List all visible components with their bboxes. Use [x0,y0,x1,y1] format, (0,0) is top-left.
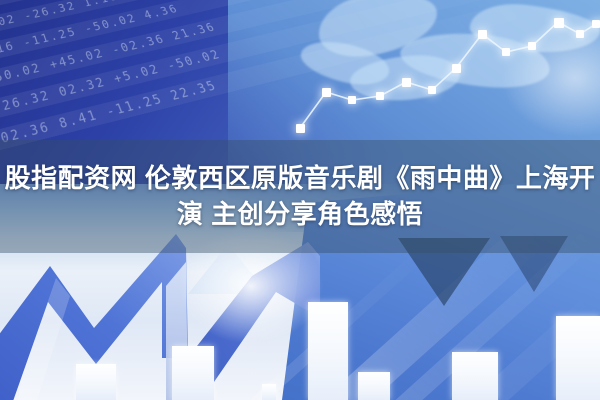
bar [76,364,116,400]
bar [452,352,498,400]
glowing-line-chart [296,0,600,146]
bar [308,302,348,400]
headline-line-2: 演 主创分享角色感悟 [177,199,423,231]
headline-overlay: 股指配资网 伦敦西区原版音乐剧《雨中曲》上海开 演 主创分享角色感悟 [0,140,600,253]
line-chart-path [300,18,600,128]
bar [172,346,214,400]
bar-chart [0,240,600,400]
headline-line-1: 股指配资网 伦敦西区原版音乐剧《雨中曲》上海开 [5,163,596,195]
bar [358,372,390,400]
bar [262,384,276,400]
banner-image: -11.25 +5.02 -02.36 +8.41 -02.36 -50.02 … [0,0,600,400]
bar [556,316,600,400]
